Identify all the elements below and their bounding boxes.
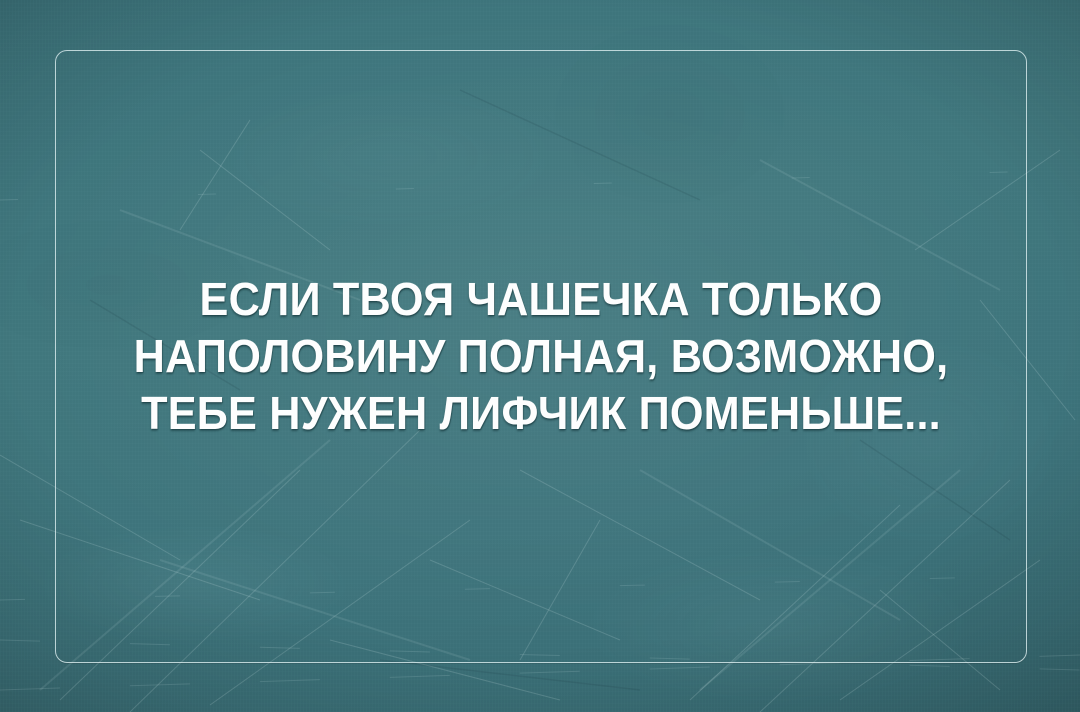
meme-canvas: ЕСЛИ ТВОЯ ЧАШЕЧКА ТОЛЬКО НАПОЛОВИНУ ПОЛН… [0,0,1080,712]
caption-block: ЕСЛИ ТВОЯ ЧАШЕЧКА ТОЛЬКО НАПОЛОВИНУ ПОЛН… [55,50,1027,663]
caption-line-1: ЕСЛИ ТВОЯ ЧАШЕЧКА ТОЛЬКО [92,271,991,328]
caption-line-2: НАПОЛОВИНУ ПОЛНАЯ, ВОЗМОЖНО, [92,328,991,385]
caption-line-3: ТЕБЕ НУЖЕН ЛИФЧИК ПОМЕНЬШЕ... [92,385,991,442]
